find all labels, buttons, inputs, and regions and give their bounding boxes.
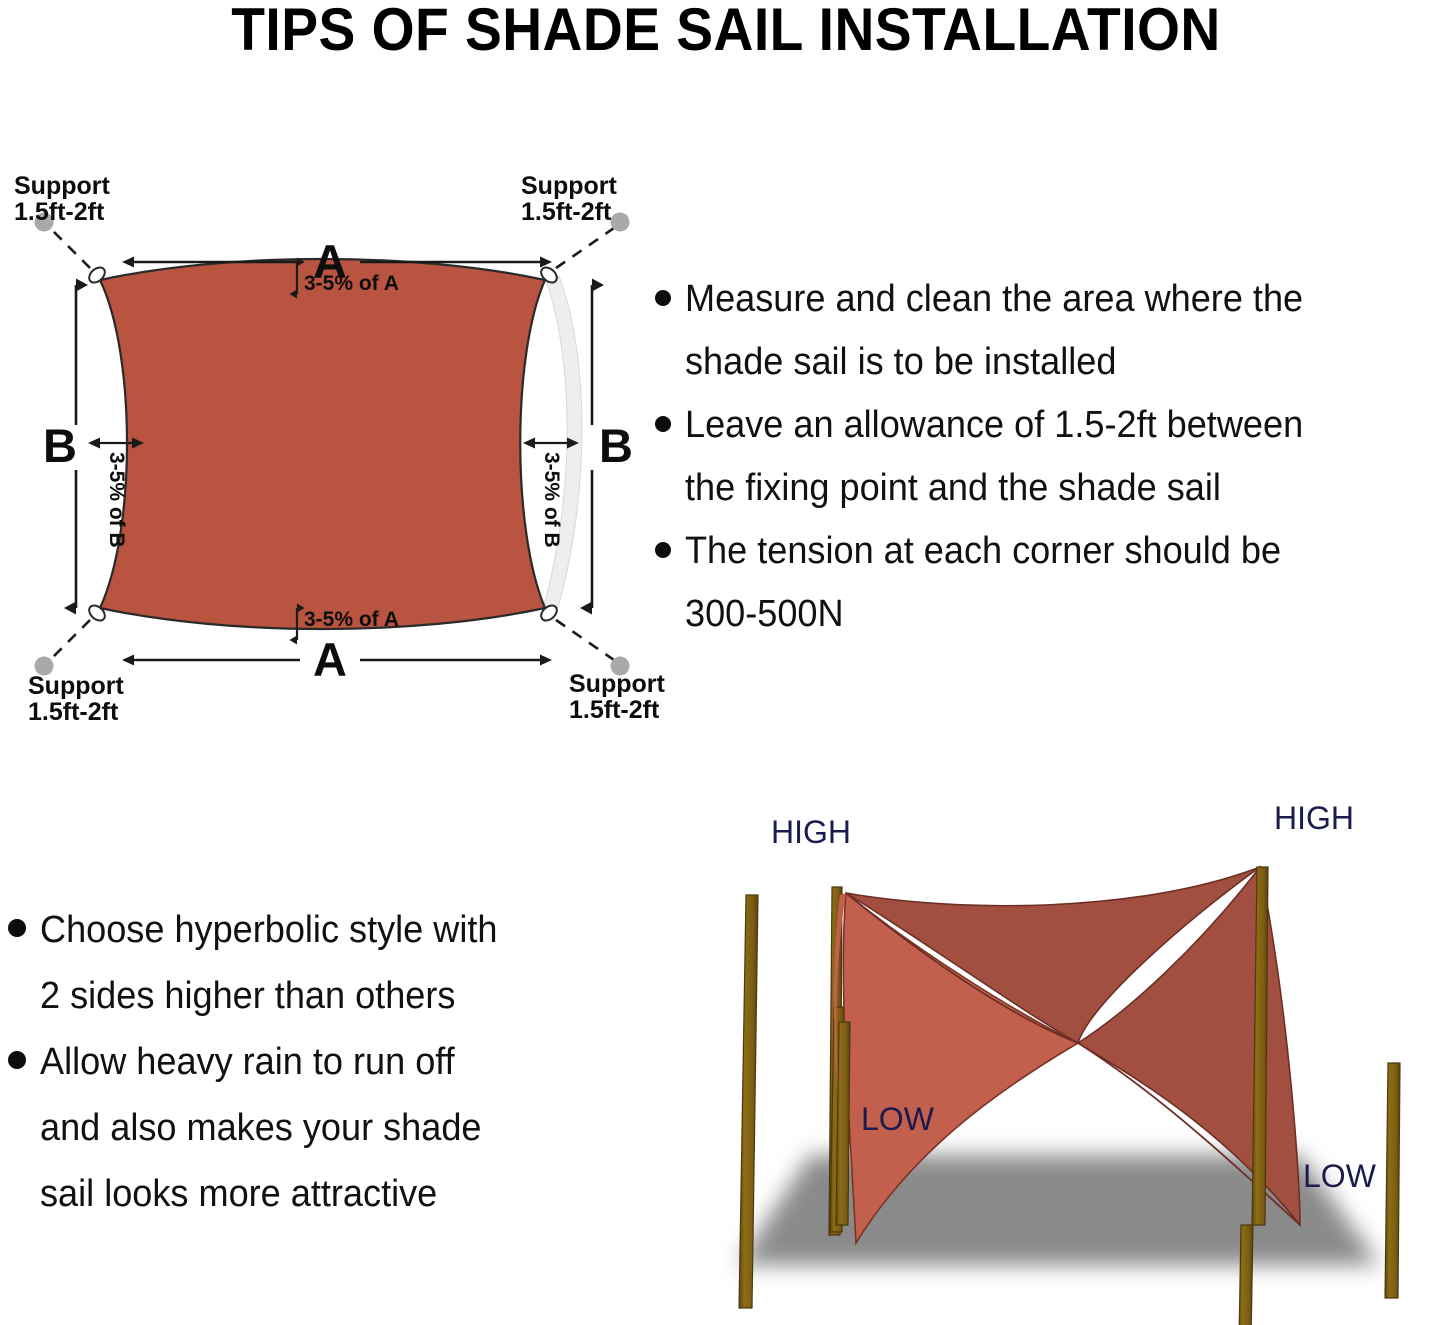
curve-depth-label-bottom: 3-5% of A [304,608,399,631]
page-title: TIPS OF SHADE SAIL INSTALLATION [58,0,1394,62]
curve-depth-label-top: 3-5% of A [304,272,399,295]
installation-tips-list: Measure and clean the area where the sha… [655,268,1452,646]
support-dot-top-right [611,213,630,232]
bullet-dot-icon [8,919,26,937]
poster-root: TIPS OF SHADE SAIL INSTALLATION [0,0,1452,1325]
svg-text:1.5ft-2ft: 1.5ft-2ft [569,696,660,724]
hyperbolic-style-tips-list: Choose hyperbolic style with 2 sides hig… [8,897,628,1227]
list-item-text: Leave an allowance of 1.5-2ft between th… [685,394,1303,520]
list-item: Leave an allowance of 1.5-2ft between th… [655,394,1452,520]
list-item-text: The tension at each corner should be 300… [685,520,1281,646]
list-item: The tension at each corner should be 300… [655,520,1452,646]
label-low-left: LOW [861,1101,935,1137]
svg-text:Support: Support [569,670,665,698]
support-label-bottom-left: Support 1.5ft-2ft [28,672,124,726]
dimension-a-bottom: A [134,633,540,686]
label-high-left: HIGH [771,814,851,850]
curve-depth-right: 3-5% of B [535,443,567,548]
label-low-right: LOW [1303,1158,1377,1194]
svg-text:Support: Support [521,172,617,200]
dimension-label-a-bottom: A [313,633,347,686]
svg-text:1.5ft-2ft: 1.5ft-2ft [14,198,105,226]
dimension-b-right: B [592,285,633,608]
pole-low-right [1385,1063,1400,1298]
list-item-text: Measure and clean the area where the sha… [685,268,1303,394]
svg-text:1.5ft-2ft: 1.5ft-2ft [28,698,119,726]
list-item-text: Allow heavy rain to run off and also mak… [40,1029,481,1227]
curve-depth-label-left: 3-5% of B [105,452,128,548]
support-label-top-right: Support 1.5ft-2ft [521,172,617,226]
dimension-label-b-right: B [599,419,633,472]
svg-text:Support: Support [28,672,124,700]
list-item: Allow heavy rain to run off and also mak… [8,1029,628,1227]
pole-back-right [1238,1225,1253,1325]
rect-sail-diagram: A 3-5% of A A 3-5% of A B [0,170,660,730]
pole-low-left-front [836,1022,850,1225]
shade-sail-shape [100,259,545,629]
sail-edge-highlight-right [542,276,582,614]
list-item: Measure and clean the area where the sha… [655,268,1452,394]
support-label-bottom-right: Support 1.5ft-2ft [569,670,665,724]
hyperbolic-sail-diagram: HIGH HIGH LOW LOW [660,795,1452,1325]
curve-depth-left: 3-5% of B [100,443,132,548]
list-item: Choose hyperbolic style with 2 sides hig… [8,897,628,1029]
bullet-dot-icon [655,290,671,306]
support-label-top-left: Support 1.5ft-2ft [14,172,110,226]
curve-depth-label-right: 3-5% of B [540,452,563,548]
bullet-dot-icon [655,542,671,558]
dimension-label-b-left: B [43,419,77,472]
svg-text:Support: Support [14,172,110,200]
dimension-b-left: B [43,285,77,608]
list-item-text: Choose hyperbolic style with 2 sides hig… [40,897,497,1029]
bullet-dot-icon [8,1051,26,1069]
label-high-right: HIGH [1274,800,1354,836]
bullet-dot-icon [655,416,671,432]
svg-text:1.5ft-2ft: 1.5ft-2ft [521,198,612,226]
